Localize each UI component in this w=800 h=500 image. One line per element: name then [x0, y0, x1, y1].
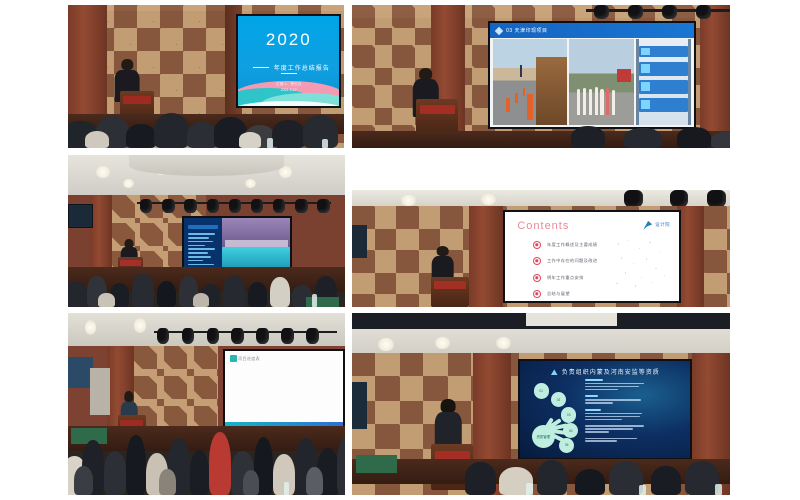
- led-screen-mid-left: [182, 216, 293, 271]
- photo-control-cabinet: [636, 39, 691, 125]
- slide-subtitle: 年度工作总结报告: [238, 63, 339, 78]
- panel-bottom-right: 负责组织内蒙及河南安监等资质 资质管理 01 02 03 04 05: [352, 313, 730, 495]
- fan-diagram: 资质管理 01 02 03 04 05: [531, 382, 582, 453]
- diamond-icon: [495, 26, 503, 34]
- audience: [352, 455, 730, 495]
- slide-header-bar: [188, 225, 218, 229]
- panel-bottom-left: 项目进度表: [68, 313, 345, 495]
- panel-top-left: 2020 年度工作总结报告 汇报人：院长办 2021.3.27: [68, 5, 344, 148]
- audience: [68, 102, 344, 148]
- node: 02: [551, 392, 566, 407]
- node: 01: [534, 383, 549, 398]
- photo-collage: 2020 年度工作总结报告 汇报人：院长办 2021.3.27: [0, 0, 800, 500]
- bullet-icon: [533, 241, 541, 249]
- podium: [431, 277, 469, 307]
- slide-header-text: 项目进度表: [238, 356, 260, 362]
- brand-logo: 设计院: [643, 221, 670, 230]
- photo-marchers: [569, 39, 634, 125]
- brand-text: 设计院: [655, 222, 670, 228]
- led-screen-top-left: 2020 年度工作总结报告 汇报人：院长办 2021.3.27: [236, 14, 341, 108]
- bullet-icon: [533, 257, 541, 265]
- led-screen-bottom-left: 项目进度表: [223, 349, 345, 431]
- list-item: 总结与展望: [533, 290, 665, 298]
- slide-header-bar: 03 天津印现项目: [490, 23, 694, 39]
- decorative-dots: [613, 237, 672, 291]
- bullet-icon: [533, 290, 541, 298]
- slide-byline: 汇报人：院长办 2021.3.27: [238, 82, 339, 93]
- node: 04: [563, 423, 578, 438]
- bullet-icon: [533, 274, 541, 282]
- slide-2020-cover: 2020 年度工作总结报告 汇报人：院长办 2021.3.27: [238, 16, 339, 106]
- triangle-mark-icon: [551, 369, 558, 375]
- slide-header-text: 03 天津印现项目: [506, 27, 547, 34]
- led-screen-mid-right: Contents 设计院 年度工作概述及主要成绩 工作中存在的问题及改进: [503, 210, 681, 304]
- brand-mark-icon: [643, 221, 652, 230]
- node: 05: [559, 438, 574, 453]
- slide-project-photos: 03 天津印现项目: [490, 23, 694, 128]
- contents-title: Contents: [517, 220, 569, 232]
- hub-node: 资质管理: [532, 425, 555, 448]
- led-screen-bottom-right: 负责组织内蒙及河南安监等资质 资质管理 01 02 03 04 05: [518, 359, 692, 461]
- led-screen-top-right: 03 天津印现项目: [488, 21, 696, 130]
- panel-mid-left: [68, 155, 345, 307]
- panel-mid-right: Contents 设计院 年度工作概述及主要成绩 工作中存在的问题及改进: [352, 190, 730, 307]
- slide-text-blocks: [585, 379, 646, 453]
- slide-contents: Contents 设计院 年度工作概述及主要成绩 工作中存在的问题及改进: [505, 212, 679, 302]
- photo-road-construction: [493, 39, 567, 125]
- audience: [352, 125, 730, 148]
- slide-year: 2020: [238, 30, 339, 50]
- audience: [68, 264, 345, 307]
- slide-white: 项目进度表: [225, 351, 343, 429]
- slide-title: 负责组织内蒙及河南安监等资质: [520, 367, 690, 376]
- slide-node-diagram: 负责组织内蒙及河南安监等资质 资质管理 01 02 03 04 05: [520, 361, 690, 459]
- audience: [68, 422, 345, 495]
- panel-top-right: 03 天津印现项目: [352, 5, 730, 148]
- node: 03: [561, 407, 576, 422]
- slide-city-project: [184, 218, 291, 269]
- slide-icon: [230, 355, 237, 362]
